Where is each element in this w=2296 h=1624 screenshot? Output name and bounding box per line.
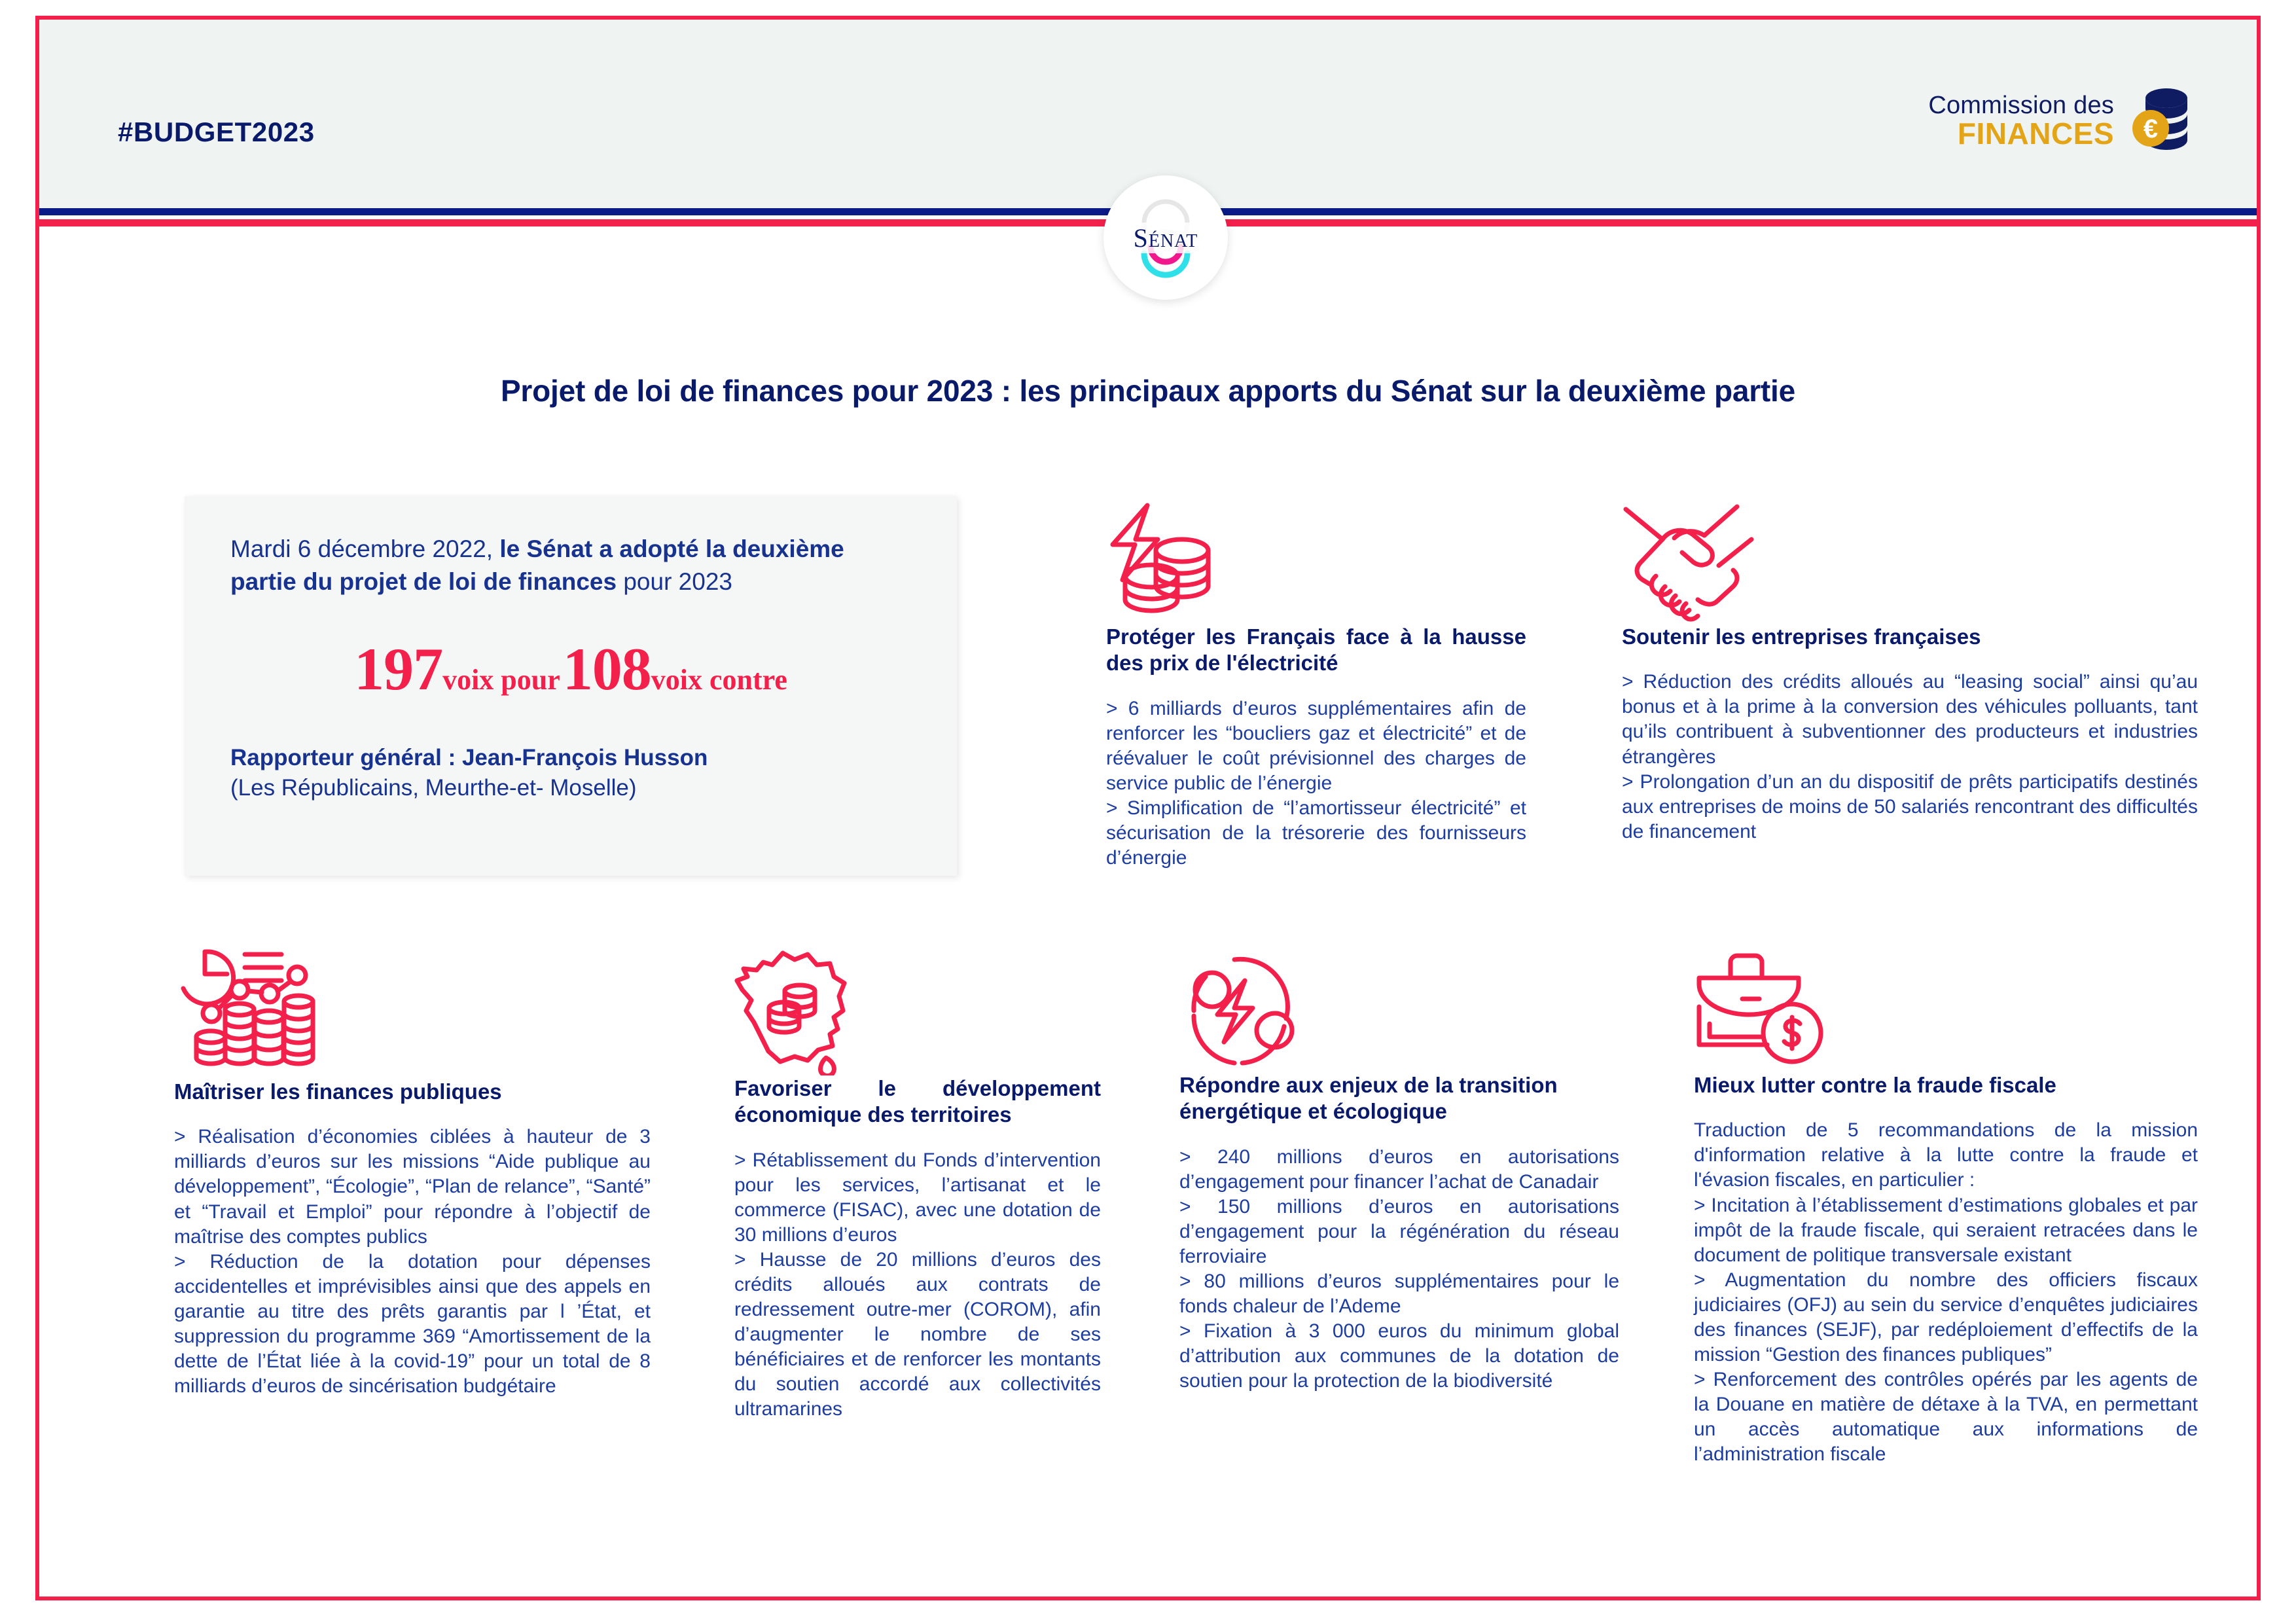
section-title-entreprises: Soutenir les entreprises françaises [1622, 624, 2198, 650]
section-proteger-les-francais: Protéger les Français face à la hausse d… [1106, 503, 1526, 871]
commission-des-finances-logo: Commission des FINANCES € [1928, 85, 2189, 157]
vote-lead-plain-1: Mardi 6 décembre 2022, [230, 535, 499, 562]
page-title: Projet de loi de finances pour 2023 : le… [39, 373, 2257, 408]
section-transition-energetique: Répondre aux enjeux de la transition éne… [1179, 948, 1619, 1394]
section-body-fraude: Traduction de 5 recommandations de la mi… [1694, 1118, 2198, 1467]
page-frame: #BUDGET2023 Commission des FINANCES € [35, 16, 2261, 1600]
rapporteur-name: Rapporteur général : Jean-François Husso… [230, 743, 911, 773]
rapporteur-block: Rapporteur général : Jean-François Husso… [230, 743, 911, 803]
handshake-icon [1622, 503, 1785, 624]
section-body-electricite: > 6 milliards d’euros supplémentaires af… [1106, 696, 1526, 871]
senat-logo-badge: Sénat [1103, 175, 1228, 300]
vote-summary-box: Mardi 6 décembre 2022, le Sénat a adopté… [185, 496, 957, 876]
lightning-coins-icon [1106, 503, 1230, 624]
svg-text:€: € [2144, 115, 2158, 143]
vote-lead-text: Mardi 6 décembre 2022, le Sénat a adopté… [230, 533, 911, 598]
section-body-transition: > 240 millions d’euros en autorisations … [1179, 1145, 1619, 1394]
section-title-territoires: Favoriser le développement économique de… [734, 1075, 1101, 1128]
section-title-electricite: Protéger les Français face à la hausse d… [1106, 624, 1526, 677]
infographic-page: #BUDGET2023 Commission des FINANCES € [0, 0, 2296, 1624]
votes-against-label: voix contre [651, 664, 787, 696]
energy-cycle-icon [1179, 948, 1307, 1072]
vote-tally: 197voix pour 108voix contre [230, 634, 911, 704]
section-body-territoires: > Rétablissement du Fonds d’intervention… [734, 1148, 1101, 1422]
votes-for-number: 197 [354, 636, 442, 702]
section-maitriser-les-finances: Maîtriser les finances publiques > Réali… [174, 948, 651, 1399]
commission-logo-line1: Commission des [1928, 93, 2114, 118]
coin-stack-icon: € [2128, 85, 2189, 157]
commission-logo-line2: FINANCES [1928, 118, 2114, 149]
section-title-maitriser: Maîtriser les finances publiques [174, 1079, 651, 1105]
commission-logo-words: Commission des FINANCES [1928, 93, 2114, 149]
section-title-fraude: Mieux lutter contre la fraude fiscale [1694, 1072, 2198, 1098]
section-fraude-fiscale: Mieux lutter contre la fraude fiscale Tr… [1694, 948, 2198, 1468]
section-body-entreprises: > Réduction des crédits alloués au “leas… [1622, 670, 2198, 844]
senat-wordmark: Sénat [1130, 223, 1202, 253]
vote-lead-plain-2: pour 2023 [617, 568, 732, 595]
france-map-coins-icon [734, 948, 862, 1075]
votes-for-label: voix pour [442, 664, 560, 696]
section-favoriser-developpement: Favoriser le développement économique de… [734, 948, 1101, 1422]
briefcase-money-icon [1694, 948, 1825, 1072]
section-title-transition: Répondre aux enjeux de la transition éne… [1179, 1072, 1619, 1125]
rapporteur-detail: (Les Républicains, Meurthe-et- Moselle) [230, 773, 911, 803]
section-soutenir-les-entreprises: Soutenir les entreprises françaises > Ré… [1622, 503, 2198, 844]
pie-chart-coins-icon [174, 948, 328, 1079]
section-body-maitriser: > Réalisation d’économies ciblées à haut… [174, 1125, 651, 1399]
hashtag-budget: #BUDGET2023 [118, 117, 315, 148]
votes-against-number: 108 [563, 636, 651, 702]
